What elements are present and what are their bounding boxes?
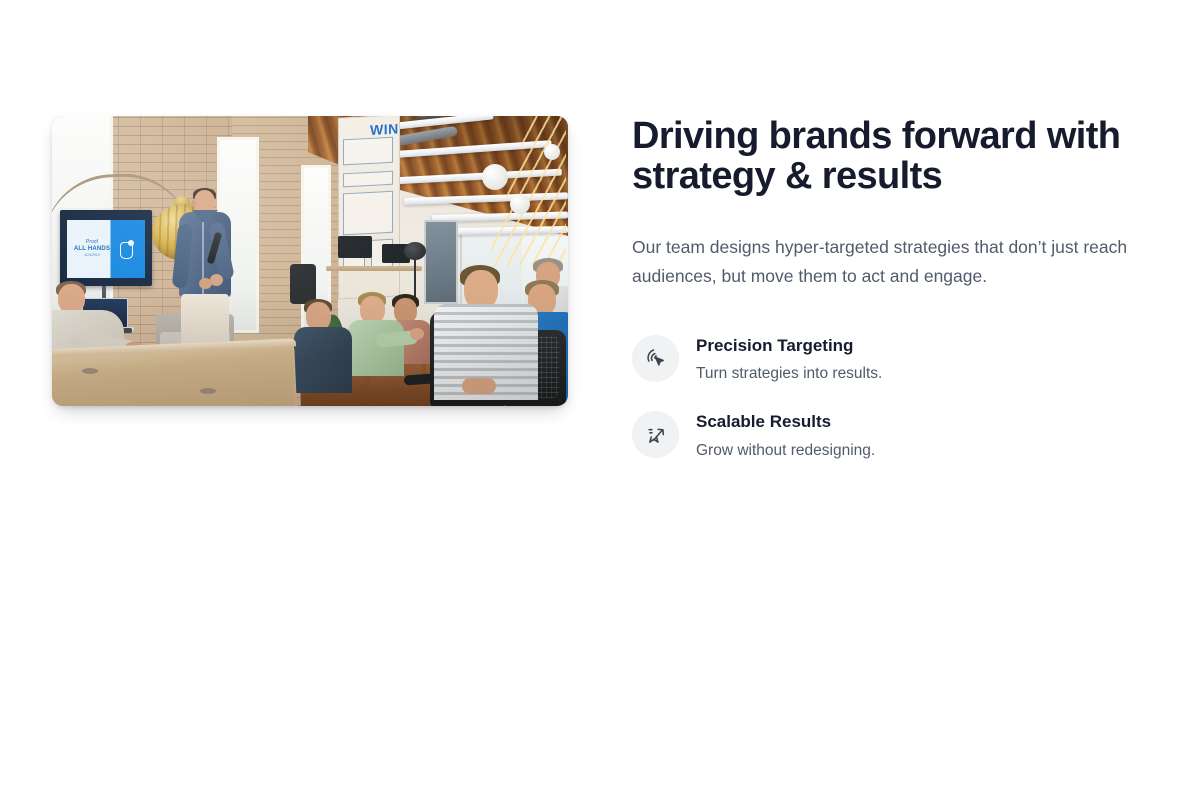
scale-arrow-icon — [632, 411, 679, 458]
hand — [410, 328, 424, 340]
audience-member — [296, 302, 352, 406]
office-presentation-photo: WIN Proof ALL HANDS — [52, 116, 568, 406]
globe-pendant — [510, 194, 530, 214]
tripod-light — [404, 242, 426, 260]
feature-item-precision-targeting: Precision Targeting Turn strategies into… — [632, 335, 1152, 385]
table-grommet — [82, 368, 98, 374]
slide-line-2: ALL HANDS — [73, 246, 111, 253]
feature-title: Scalable Results — [696, 412, 875, 432]
feature-description: Grow without redesigning. — [696, 441, 875, 461]
poster-sketch — [343, 191, 393, 236]
cursor-click-icon — [632, 335, 679, 382]
globe-pendant — [544, 144, 560, 160]
feature-text: Precision Targeting Turn strategies into… — [696, 335, 882, 385]
audience-member-foreground — [440, 270, 536, 406]
background-monitor — [338, 236, 372, 258]
slide-line-3: 4/24/2019 — [73, 253, 111, 257]
page-title: Driving brands forward with strategy & r… — [632, 116, 1152, 197]
feature-description: Turn strategies into results. — [696, 364, 882, 384]
globe-pendant — [482, 164, 508, 190]
feature-item-scalable-results: Scalable Results Grow without redesignin… — [632, 411, 1152, 461]
feature-title: Precision Targeting — [696, 336, 882, 356]
background-desk — [326, 266, 422, 271]
presenter-ear — [191, 200, 196, 207]
hero-image: WIN Proof ALL HANDS — [52, 116, 568, 406]
win-poster: WIN — [338, 116, 400, 300]
poster-sketch — [343, 171, 393, 188]
clasped-hands — [462, 378, 496, 394]
torso — [348, 320, 404, 376]
hero-content: Driving brands forward with strategy & r… — [632, 116, 1152, 488]
presenter-hand — [199, 278, 212, 289]
feature-list: Precision Targeting Turn strategies into… — [632, 335, 1152, 461]
feature-text: Scalable Results Grow without redesignin… — [696, 411, 875, 461]
hero-subcopy: Our team designs hyper-targeted strategi… — [632, 233, 1147, 291]
hero-section: WIN Proof ALL HANDS — [0, 0, 1200, 800]
background-chair — [290, 264, 316, 304]
poster-sketch — [343, 137, 393, 166]
torso — [294, 327, 352, 393]
audience-member — [348, 296, 404, 396]
table-grommet — [200, 388, 216, 394]
win-poster-text: WIN — [370, 120, 399, 138]
